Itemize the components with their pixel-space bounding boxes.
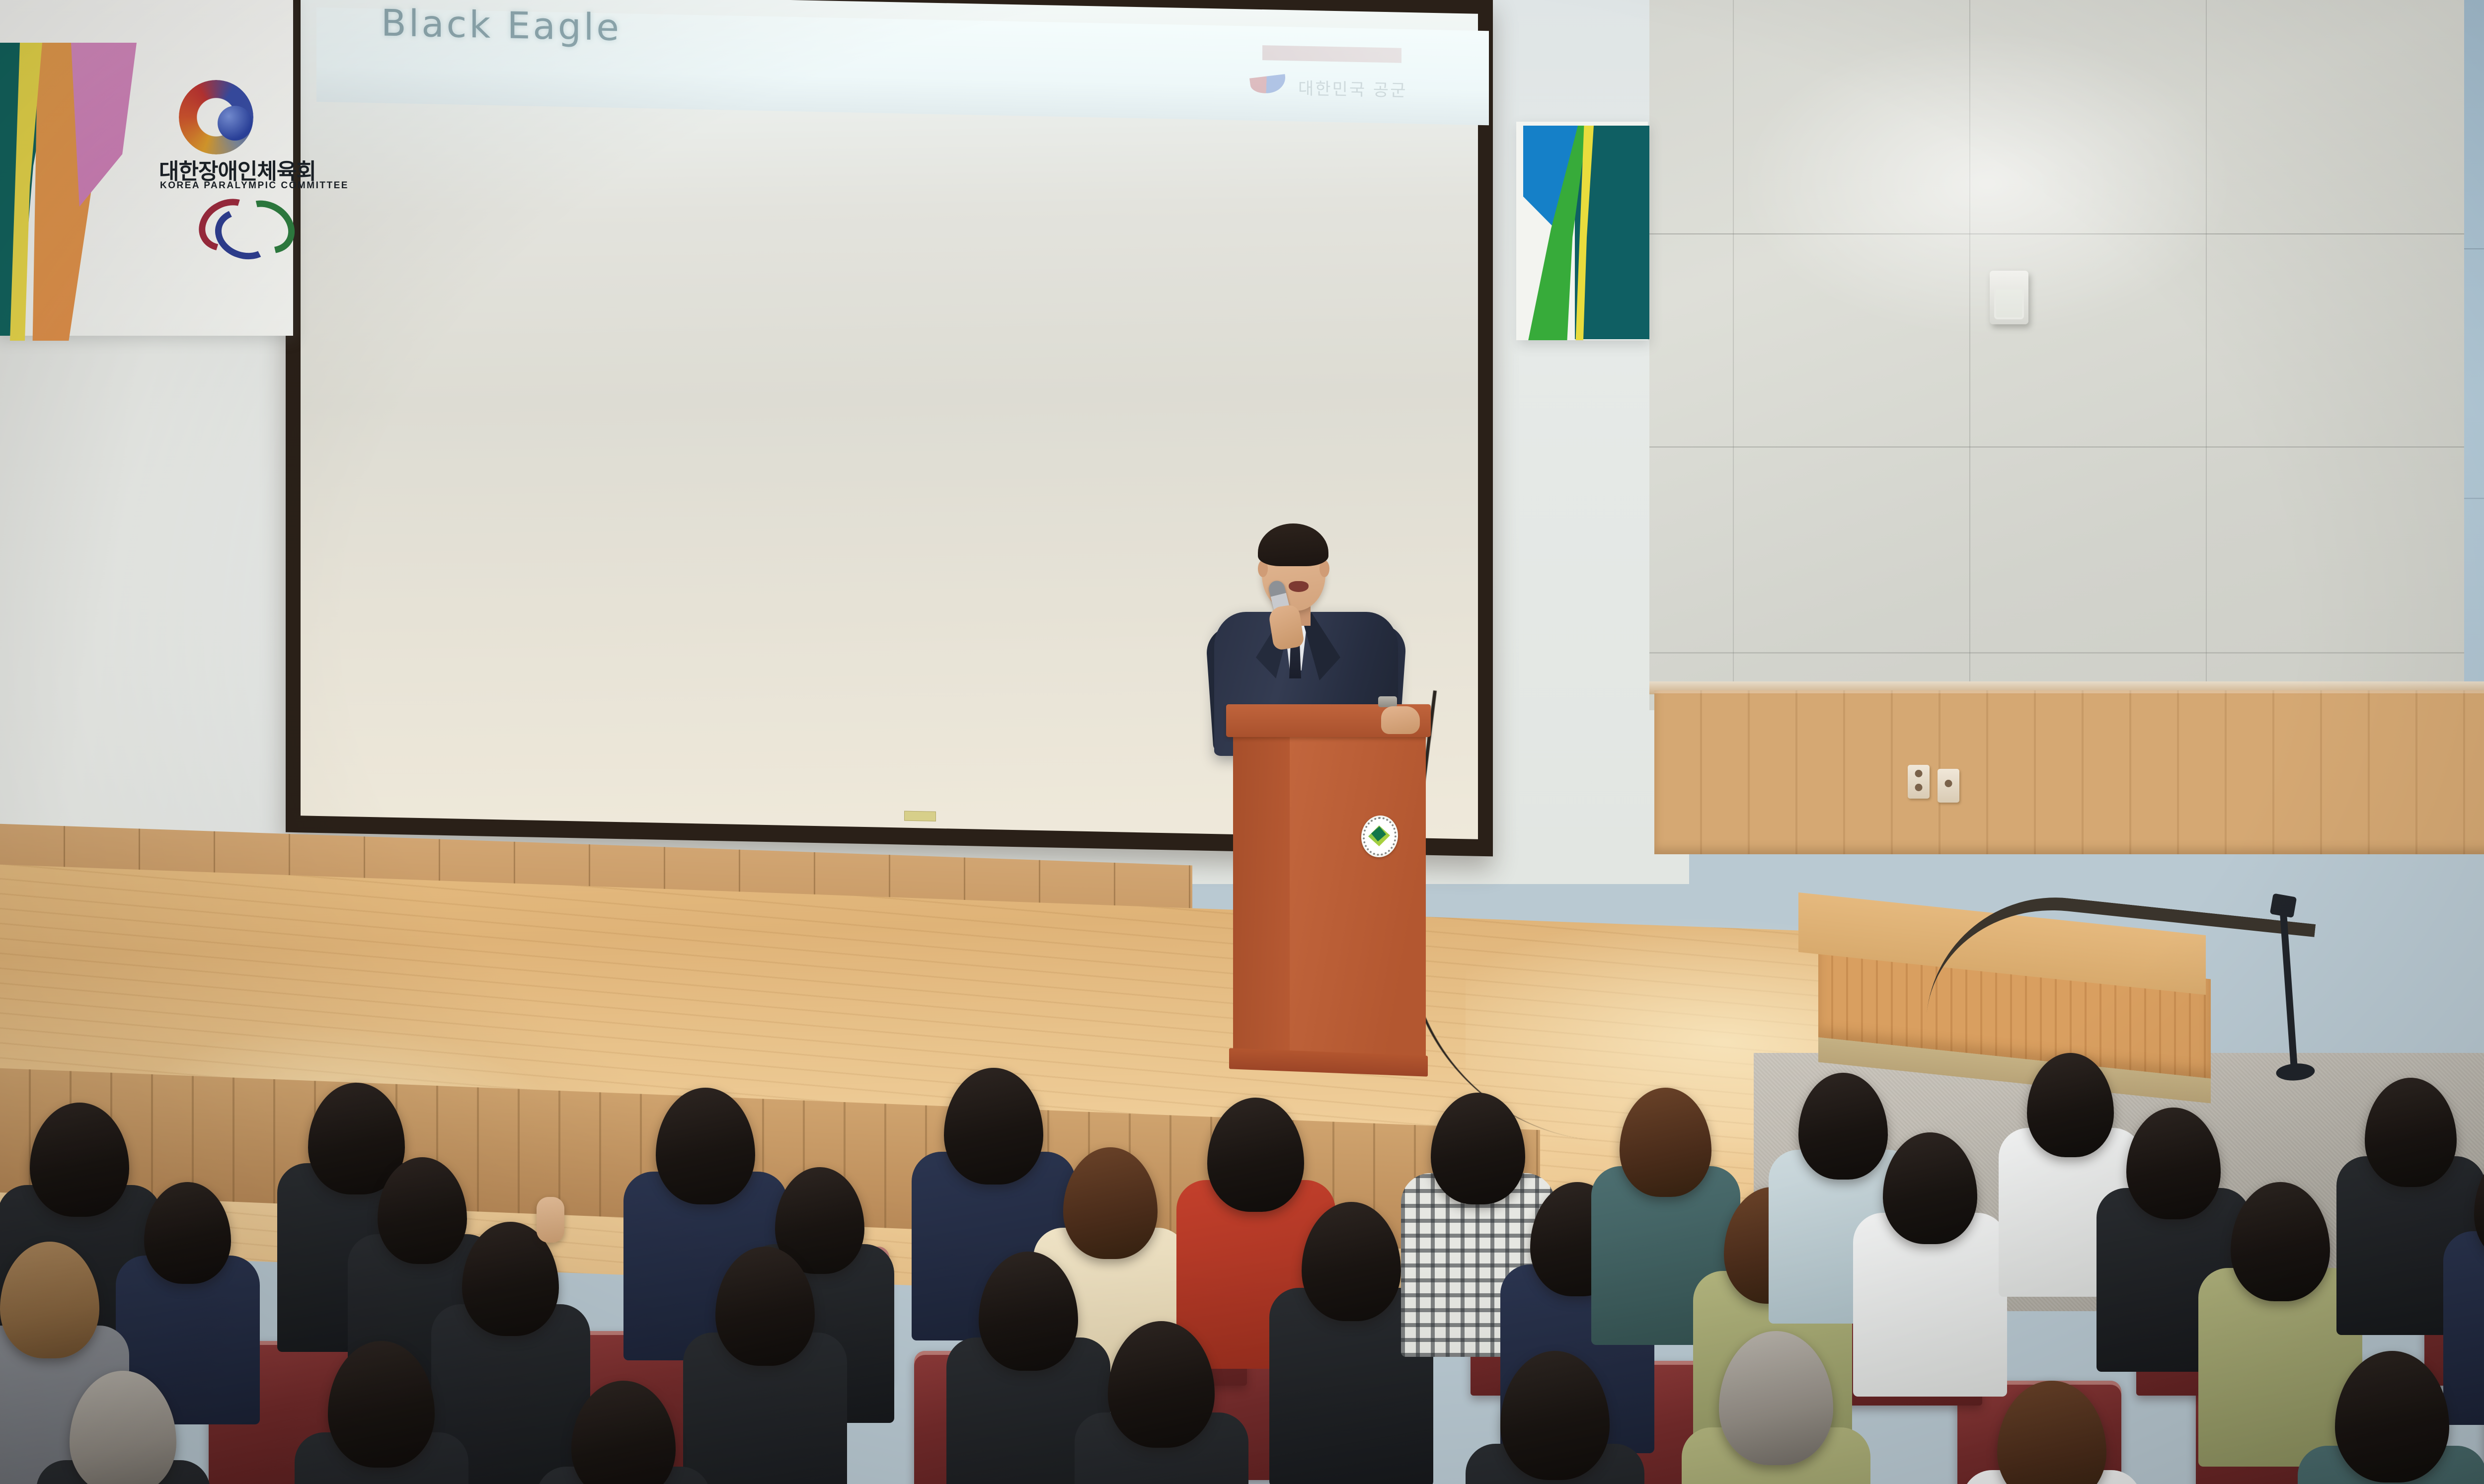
slide-logo-text: 대한민국 공군 [1298, 75, 1407, 101]
audience-member-head [1883, 1132, 1977, 1244]
audience-seating-area [0, 1033, 2484, 1484]
podium-front-panel [1290, 727, 1426, 1067]
audience-raised-hand [537, 1197, 564, 1243]
audience-member-head [1798, 1073, 1888, 1180]
audience-member-head [944, 1068, 1043, 1185]
emergency-light-icon [1990, 271, 2028, 324]
speaker-wristwatch [1378, 696, 1397, 707]
paralympic-agitos-symbol [198, 198, 287, 253]
taeguk-blue-ball-icon [218, 106, 252, 141]
podium-side-panel [1233, 727, 1292, 1066]
korea-paralympic-committee-banner: 대한장애인체육회 KOREA PARALYMPIC COMMITTEE [0, 0, 293, 336]
screen-label-tag [904, 811, 936, 821]
swoosh-icon [1249, 74, 1287, 95]
audience-member-head [2365, 1078, 2457, 1187]
korea-government-taeguk-logo: 대한장애인체육회 KOREA PARALYMPIC COMMITTEE [169, 80, 288, 167]
slide-divider-bar [1262, 45, 1401, 63]
audience-member-head [1207, 1098, 1304, 1212]
auditorium-photo-scene: Black Eagle 대한민국 공군 대한장애인체육회 KOREA PARAL… [0, 0, 2484, 1484]
audience-member-head [144, 1182, 231, 1284]
single-jack-outlet-icon [1938, 769, 1959, 803]
crest-ring-text [1363, 816, 1397, 856]
podium-lectern [1231, 704, 1426, 1077]
audience-member-head [1063, 1147, 1158, 1259]
audience-member-head [1620, 1088, 1711, 1197]
audience-member-head [2126, 1108, 2221, 1219]
stone-tile-wall [1649, 0, 2484, 710]
speaker-hair [1258, 523, 1328, 566]
speaker-mouth [1289, 581, 1309, 592]
wall-banner-stripes [1516, 122, 1648, 340]
audience-member-head [1431, 1093, 1525, 1204]
speaker-right-hand [1381, 706, 1420, 734]
audience-member-head [2231, 1182, 2330, 1301]
duplex-outlet-icon [1908, 765, 1930, 799]
audience-member-head [2027, 1053, 2114, 1157]
audience-member-torso [2443, 1231, 2484, 1425]
slide-content-band: Black Eagle 대한민국 공군 [316, 7, 1489, 125]
korean-air-force-swoosh-logo: 대한민국 공군 [1250, 45, 1414, 108]
wood-wainscot-panel [1654, 690, 2484, 854]
banner-organization-en: KOREA PARALYMPIC COMMITTEE [160, 180, 349, 191]
audience-member-head [656, 1088, 755, 1204]
slide-title: Black Eagle [381, 1, 621, 49]
audience-member-head [30, 1103, 129, 1217]
